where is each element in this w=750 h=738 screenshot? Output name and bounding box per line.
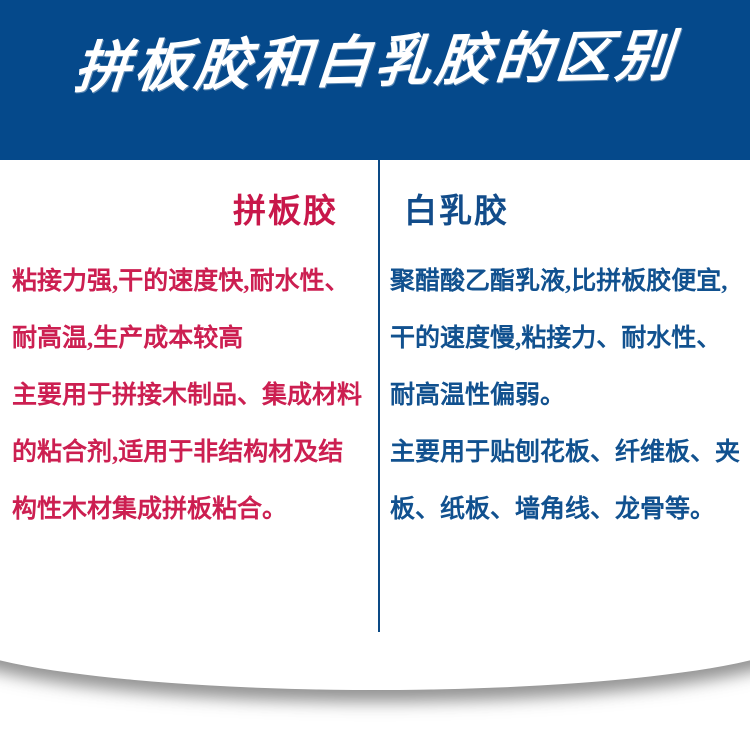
white-latex-glue-paragraph-2: 主要用于贴刨花板、纤维板、夹板、纸板、墙角线、龙骨等。 xyxy=(390,424,742,538)
comparison-panel: 拼板胶 粘接力强,干的速度快,耐水性、耐高温,生产成本较高 主要用于拼接木制品、… xyxy=(0,160,750,632)
page-root: 拼板胶和白乳胶的区别 拼板胶 粘接力强,干的速度快,耐水性、耐高温,生产成本较高… xyxy=(0,0,750,738)
panel-glue-paragraph-2: 主要用于拼接木制品、集成材料的粘合剂,适用于非结构材及结构性木材集成拼板粘合。 xyxy=(12,367,364,538)
header-banner: 拼板胶和白乳胶的区别 xyxy=(0,0,750,160)
column-panel-glue: 拼板胶 粘接力强,干的速度快,耐水性、耐高温,生产成本较高 主要用于拼接木制品、… xyxy=(0,160,378,538)
column-heading-white-latex-glue: 白乳胶 xyxy=(390,196,742,229)
page-bottom-shadow xyxy=(0,632,750,738)
panel-glue-paragraph-1: 粘接力强,干的速度快,耐水性、耐高温,生产成本较高 xyxy=(12,253,364,367)
column-heading-panel-glue: 拼板胶 xyxy=(12,196,364,229)
shadow-curve xyxy=(0,632,750,690)
column-white-latex-glue: 白乳胶 聚醋酸乙酯乳液,比拼板胶便宜,干的速度慢,粘接力、耐水性、耐高温性偏弱。… xyxy=(380,160,750,538)
page-title: 拼板胶和白乳胶的区别 xyxy=(0,26,750,100)
white-latex-glue-paragraph-1: 聚醋酸乙酯乳液,比拼板胶便宜,干的速度慢,粘接力、耐水性、耐高温性偏弱。 xyxy=(390,253,742,424)
